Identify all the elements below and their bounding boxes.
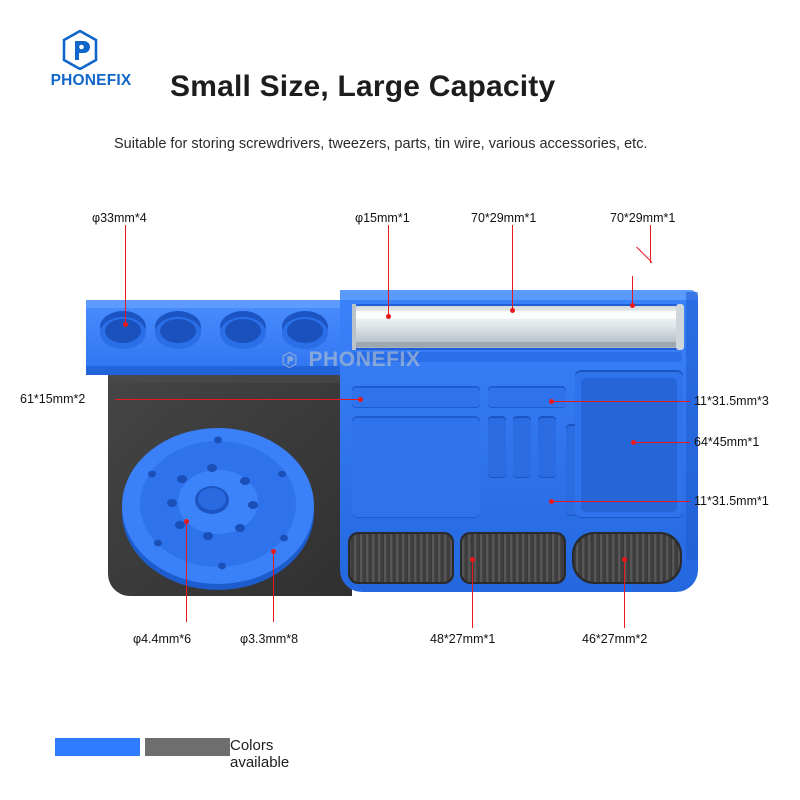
callout-slot-61x15: 61*15mm*2: [20, 392, 85, 406]
callout-pad-46x27: 46*27mm*2: [582, 632, 647, 646]
leader-dot-slot-11x315-bot: [549, 499, 554, 504]
leader-dot-slot-70x29-a: [510, 308, 515, 313]
callout-holes-33mm: φ33mm*4: [92, 211, 147, 225]
page-root: PHONEFIX Small Size, Large Capacity Suit…: [0, 0, 800, 800]
leader-dot-slot-70x29-b: [630, 303, 635, 308]
callout-slot-11x315-bot: 11*31.5mm*1: [694, 494, 769, 508]
leader-holes-44mm: [186, 522, 187, 622]
leader-slot-11x315-top: [552, 401, 690, 402]
leader-pad-48x27: [472, 560, 473, 628]
screw-holder-disc: [122, 428, 314, 590]
leader-dot-holes-44mm: [184, 519, 189, 524]
leader-slot-64x45: [634, 442, 690, 443]
leader-holes-33mm-small: [273, 552, 274, 622]
leader-holes-33mm: [125, 225, 126, 325]
leader-dot-holes-33mm: [123, 322, 128, 327]
leader-slot-70x29-a: [512, 225, 513, 311]
leader-pad-46x27: [624, 560, 625, 628]
leader-dot-slot-61x15: [358, 397, 363, 402]
leader-slot-11x315-bot: [552, 501, 690, 502]
leader-slot-61x15: [115, 399, 363, 400]
callout-pad-48x27: 48*27mm*1: [430, 632, 495, 646]
callout-holes-44mm: φ4.4mm*6: [133, 632, 191, 646]
leader-dot-slot-64x45: [631, 440, 636, 445]
leader-dot-holes-33mm-small: [271, 549, 276, 554]
callout-slot-11x315-top: 11*31.5mm*3: [694, 394, 769, 408]
callout-slot-64x45: 64*45mm*1: [694, 435, 759, 449]
bottom-pads: [348, 532, 682, 584]
callout-tube-15mm: φ15mm*1: [355, 211, 410, 225]
leader-dot-pad-48x27: [470, 557, 475, 562]
callout-slot-70x29-a: 70*29mm*1: [471, 211, 536, 225]
leader-dot-pad-46x27: [622, 557, 627, 562]
leader-tube-15mm: [388, 225, 389, 317]
transparent-tube: [352, 304, 684, 362]
legend-label: Colors available: [230, 737, 289, 771]
leader-dot-slot-11x315-top: [549, 399, 554, 404]
leader-dot-tube-15mm: [386, 314, 391, 319]
leader-slot-70x29-b: [650, 225, 651, 263]
callout-holes-33mm-small: φ3.3mm*8: [240, 632, 298, 646]
callout-slot-70x29-b: 70*29mm*1: [610, 211, 675, 225]
legend-swatch-blue: [55, 738, 140, 756]
legend-swatch-gray: [145, 738, 230, 756]
leader-slot-70x29-b-tail: [632, 276, 633, 306]
